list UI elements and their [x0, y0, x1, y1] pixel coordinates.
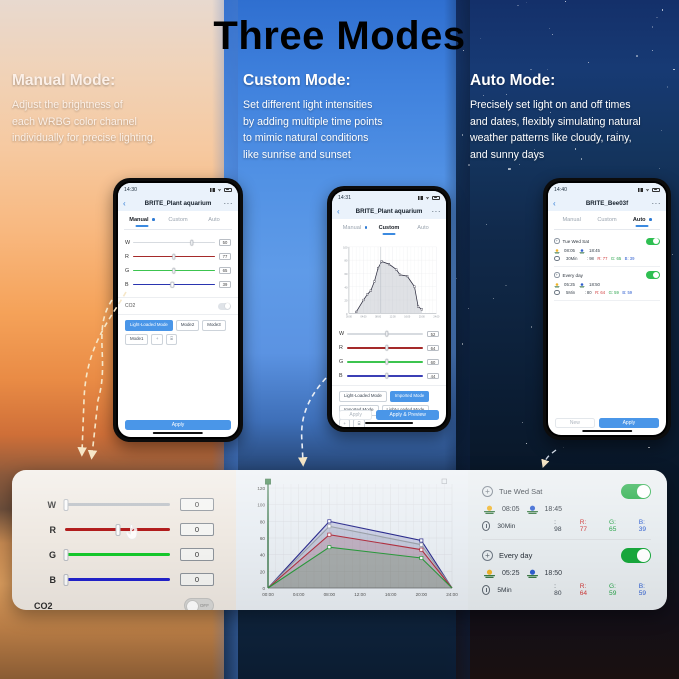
panel-schedule-value-b: B: 39: [639, 519, 651, 533]
panel-schedule-days: Every day: [499, 551, 532, 560]
status-icons: [638, 188, 660, 192]
custom-mode-line-3: to mimic natural conditions: [243, 130, 448, 147]
feature-detail-panel: W 0 R 0 G 0 B 0 CO2 OFF: [12, 470, 667, 610]
schedule-values: 30Min : 98 R: 77 G: 65 B: 39: [554, 256, 660, 262]
panel-schedule-off-time: 18:50: [545, 570, 563, 577]
tab-custom[interactable]: Custom: [160, 217, 196, 227]
sunrise-icon: [483, 504, 496, 515]
small-chart-x-tick: 08:00: [375, 316, 382, 319]
panel-schedule-ramp: 5Min: [497, 587, 537, 594]
slider-knob-b[interactable]: [385, 373, 388, 379]
slider-value-r[interactable]: 77: [219, 253, 231, 259]
star: [672, 254, 673, 255]
panel-slider-knob-g[interactable]: [64, 549, 69, 561]
slider-track-g[interactable]: [133, 270, 215, 272]
small-chart-x-tick: 24:00: [433, 316, 440, 319]
small-chart-point[interactable]: [399, 274, 401, 276]
small-chart-point[interactable]: [421, 308, 423, 310]
chart-point[interactable]: [420, 548, 423, 551]
auto-mode-line-3: weather patterns like cloudy, rainy,: [470, 130, 675, 147]
schedule-header: + Every day: [554, 271, 660, 278]
slider-value-w[interactable]: 50: [219, 239, 231, 245]
chart-y-tick-label: 100: [257, 503, 265, 508]
chart-y-tick-label: 0: [262, 586, 265, 591]
home-indicator: [153, 432, 203, 434]
small-chart-y-tick: 100: [343, 245, 348, 249]
panel-schedule-times: 08:05 18:45: [482, 504, 651, 515]
status-bar: 14:30: [118, 183, 238, 196]
apply-button[interactable]: Apply: [339, 410, 372, 420]
panel-slider-row-b: B 0: [34, 567, 214, 592]
tab-auto-label: Auto: [417, 225, 429, 231]
phone-screen-custom: 14:31 ‹ BRITE_Plant aquarium ··· Manual …: [332, 191, 446, 427]
plus-circle-icon[interactable]: +: [554, 238, 560, 244]
panel-slider-label-g: G: [34, 550, 56, 560]
custom-curve-chart[interactable]: 02040608010000:0004:0008:0012:0016:0020:…: [332, 237, 446, 325]
clock-icon: [482, 521, 490, 531]
chart-area-G: [268, 547, 452, 588]
device-name-title: BRITE_Plant aquarium: [118, 200, 238, 207]
slider-row-b: B 39: [125, 278, 231, 292]
battery-icon: [652, 188, 660, 192]
tab-auto[interactable]: Auto: [625, 217, 660, 227]
star: [563, 447, 564, 448]
star: [531, 326, 532, 327]
sunrise-icon: [554, 282, 560, 288]
schedule-on-time: 08:05: [564, 248, 575, 253]
chart-point[interactable]: [328, 520, 331, 523]
chart-point[interactable]: [328, 533, 331, 536]
auto-mode-line-4: and sunny days: [470, 147, 675, 164]
status-icons: [418, 196, 440, 200]
schedule-value-r: R: 64: [595, 290, 605, 295]
tab-underline: [136, 225, 149, 227]
tab-custom[interactable]: Custom: [372, 225, 406, 235]
tab-auto[interactable]: Auto: [406, 225, 440, 235]
chart-point[interactable]: [328, 546, 331, 549]
schedule-off-time: 18:45: [589, 248, 600, 253]
slider-row-g: G 65: [125, 264, 231, 278]
channel-sliders: W 50 R 77 G 65 B: [118, 230, 238, 294]
slider-label-w: W: [339, 331, 347, 337]
chart-x-tick-label: 24:00: [446, 592, 458, 597]
schedule-card[interactable]: + Every day 05:25 18:50 5Min : 80 R: 64 …: [554, 267, 660, 301]
auto-mode-line-2: and dates, flexibly simulating natural: [470, 114, 675, 131]
slider-value-g[interactable]: 60: [427, 359, 439, 365]
tab-manual-label: Manual: [562, 217, 580, 223]
tab-manual[interactable]: Manual: [338, 225, 372, 235]
slider-label-b: B: [125, 282, 133, 288]
star: [486, 224, 487, 225]
chart-area-W: [268, 526, 452, 588]
small-chart-point[interactable]: [414, 286, 416, 288]
custom-mode-line-2: by adding multiple time points: [243, 114, 448, 131]
panel-co2-label: CO2: [34, 601, 53, 611]
panel-schedule-value-w: : 80: [554, 583, 563, 597]
status-time: 14:31: [338, 195, 351, 201]
sunset-icon: [579, 282, 585, 288]
slider-track-r[interactable]: [347, 347, 423, 349]
panel-slider-knob-w[interactable]: [64, 499, 69, 511]
schedule-list: + Tue Wed Sat 08:05 18:45 30Min : 98 R: …: [548, 230, 666, 306]
chart-x-tick-label: 04:00: [293, 592, 305, 597]
slider-value-b[interactable]: 39: [219, 281, 231, 287]
panel-schedule-toggle[interactable]: [621, 484, 651, 499]
chart-area-R: [268, 535, 452, 588]
chip-light-loaded-mode-a[interactable]: Light-Loaded Mode: [339, 391, 387, 402]
star: [505, 285, 507, 287]
apply-button[interactable]: Apply: [599, 418, 659, 428]
cellular-signal-icon: [418, 196, 423, 200]
chart-area-B: [268, 521, 452, 588]
star: [522, 422, 523, 423]
slider-value-b[interactable]: 44: [427, 373, 439, 379]
chip-mode2[interactable]: Mode2: [176, 320, 199, 331]
chart-y-tick-label: 80: [260, 519, 266, 524]
schedule-value-b: B: 39: [625, 256, 635, 261]
cellular-signal-icon: [638, 188, 643, 192]
star: [530, 69, 531, 70]
sunset-icon: [526, 568, 539, 579]
more-horizontal-icon[interactable]: ···: [224, 200, 234, 208]
panel-schedule-days: Tue Wed Sat: [499, 487, 542, 496]
action-bar: Apply: [118, 420, 238, 430]
channel-sliders: W 52 R 64 G 60 B 44: [332, 325, 446, 385]
manual-mode-line-2: each WRBG color channel: [12, 114, 212, 131]
cellular-signal-icon: [210, 188, 215, 192]
panel-schedule-toggle[interactable]: [621, 548, 651, 563]
small-chart-point[interactable]: [377, 267, 379, 269]
chart-y-tick-label: 20: [260, 569, 266, 574]
panel-slider-value-g[interactable]: 0: [180, 548, 214, 561]
star: [662, 9, 663, 10]
schedule-value-w: : 80: [585, 290, 592, 295]
schedule-value-g: G: 65: [611, 256, 621, 261]
slider-row-b: B 44: [339, 369, 439, 383]
small-chart-point[interactable]: [417, 306, 419, 308]
mode-tabs: Manual Custom Auto: [332, 219, 446, 237]
slider-knob-g[interactable]: [172, 267, 175, 273]
small-chart-point[interactable]: [395, 269, 397, 271]
panel-slider-row-w: W 0: [34, 492, 214, 517]
chart-y-tick-label: 60: [260, 536, 266, 541]
trash-icon[interactable]: ⌸: [353, 419, 364, 427]
panel-slider-knob-r[interactable]: [115, 524, 120, 536]
schedule-values: 5Min : 80 R: 64 G: 59 B: 59: [554, 290, 660, 296]
co2-label: CO2: [125, 303, 135, 309]
small-chart-y-tick: 20: [345, 298, 348, 302]
tab-status-dot: [649, 218, 652, 221]
plus-circle-icon[interactable]: +: [482, 550, 493, 561]
slider-label-g: G: [125, 268, 133, 274]
plus-icon[interactable]: +: [339, 419, 350, 427]
plus-circle-icon[interactable]: +: [554, 272, 560, 278]
manual-mode-heading: Manual Mode:: [12, 72, 212, 90]
custom-mode-description: Custom Mode: Set different light intensi…: [243, 72, 448, 163]
small-chart-point[interactable]: [406, 275, 408, 277]
star: [462, 134, 463, 135]
chart-y-tick-label-max: 120: [257, 486, 265, 491]
small-chart-point[interactable]: [363, 299, 365, 301]
star: [519, 164, 520, 165]
slider-row-w: W 52: [339, 327, 439, 341]
phone-screen-auto: 14:40 ‹ BRITE_Bee03f ··· Manual Custom A…: [548, 183, 666, 435]
phone-custom-mode: 14:31 ‹ BRITE_Plant aquarium ··· Manual …: [327, 186, 451, 432]
slider-track-r[interactable]: [133, 256, 215, 258]
panel-schedule-value-g: G: 65: [609, 519, 622, 533]
wifi-icon: [217, 188, 222, 192]
panel-schedule-on-time: 08:05: [502, 506, 520, 513]
panel-schedule-value-r: R: 77: [580, 519, 593, 533]
small-chart-x-tick: 04:00: [361, 316, 368, 319]
schedule-ramp: 30Min: [566, 256, 577, 261]
slider-track-w[interactable]: [347, 333, 423, 335]
star: [462, 343, 464, 345]
panel-slider-value-w[interactable]: 0: [180, 498, 214, 511]
schedule-ramp: 5Min: [566, 290, 575, 295]
tab-custom[interactable]: Custom: [589, 217, 624, 227]
auto-mode-heading: Auto Mode:: [470, 72, 675, 90]
chart-point[interactable]: [420, 543, 423, 546]
small-chart-x-tick: 20:00: [419, 316, 426, 319]
panel-co2-toggle[interactable]: OFF: [184, 598, 214, 610]
chart-point[interactable]: [420, 556, 423, 559]
panel-schedule-card[interactable]: + Every day 05:25 1: [482, 539, 651, 603]
phone-auto-mode: 14:40 ‹ BRITE_Bee03f ··· Manual Custom A…: [543, 178, 671, 440]
slider-label-b: B: [339, 373, 347, 379]
page-title: Three Modes: [0, 14, 679, 59]
star: [648, 447, 650, 449]
slider-knob-r[interactable]: [172, 253, 175, 259]
device-name-title: BRITE_Plant aquarium: [332, 208, 446, 215]
small-chart-point[interactable]: [381, 261, 383, 263]
phone-screen-manual: 14:30 ‹ BRITE_Plant aquarium ··· Manual …: [118, 183, 238, 437]
slider-label-r: R: [125, 254, 133, 260]
small-chart-point[interactable]: [355, 311, 357, 313]
panel-chart-container[interactable]: 12010080604020012000:0004:0008:0012:0016…: [244, 470, 462, 610]
panel-chart-svg: 12010080604020012000:0004:0008:0012:0016…: [244, 470, 462, 610]
tab-auto[interactable]: Auto: [196, 217, 232, 227]
more-horizontal-icon[interactable]: ···: [652, 200, 662, 208]
small-chart-point[interactable]: [374, 281, 376, 283]
chart-start-handle[interactable]: [265, 479, 270, 484]
custom-curve-svg: 02040608010000:0004:0008:0012:0016:0020:…: [338, 241, 440, 325]
tab-manual[interactable]: Manual: [124, 217, 160, 227]
slider-label-g: G: [339, 359, 347, 365]
panel-slider-value-b[interactable]: 0: [180, 573, 214, 586]
panel-co2-toggle-text: OFF: [200, 603, 209, 608]
chart-y-tick-label: 120: [257, 486, 265, 491]
small-chart-point[interactable]: [370, 290, 372, 292]
tab-manual[interactable]: Manual: [554, 217, 589, 227]
slider-track-w[interactable]: [133, 242, 215, 244]
chip-mode1[interactable]: Mode1: [125, 334, 148, 345]
phone-bezel: 14:40 ‹ BRITE_Bee03f ··· Manual Custom A…: [546, 181, 668, 437]
star: [547, 69, 548, 70]
star: [468, 164, 470, 166]
phone-manual-mode: 14:30 ‹ BRITE_Plant aquarium ··· Manual …: [113, 178, 243, 442]
panel-slider-value-r[interactable]: 0: [180, 523, 214, 536]
schedule-times: 05:25 18:50: [554, 282, 660, 288]
co2-toggle[interactable]: [218, 303, 231, 310]
phone-bezel: 14:30 ‹ BRITE_Plant aquarium ··· Manual …: [116, 181, 240, 439]
slider-value-r[interactable]: 64: [427, 345, 439, 351]
hand-pointer-icon: [124, 520, 141, 542]
star: [510, 168, 511, 169]
star: [588, 62, 589, 63]
auto-mode-description: Auto Mode: Precisely set light on and of…: [470, 72, 675, 163]
star: [508, 168, 510, 170]
schedule-toggle[interactable]: [646, 271, 660, 278]
schedule-value-g: G: 59: [609, 290, 619, 295]
chart-x-tick-label: 00:00: [262, 592, 274, 597]
mode-tabs: Manual Custom Auto: [118, 211, 238, 229]
nav-bar: ‹ BRITE_Plant aquarium ···: [118, 196, 238, 211]
chart-x-tick-label: 20:00: [416, 592, 428, 597]
panel-schedule-values: 30Min : 98 R: 77 G: 65 B: 39: [482, 519, 651, 533]
star: [673, 69, 674, 70]
small-chart-point[interactable]: [366, 294, 368, 296]
slider-label-r: R: [339, 345, 347, 351]
panel-schedule-value-r: R: 64: [580, 583, 593, 597]
nav-bar: ‹ BRITE_Bee03f ···: [548, 196, 666, 211]
tab-status-dot: [152, 218, 155, 221]
plus-icon[interactable]: +: [151, 334, 162, 345]
sunrise-icon: [483, 568, 496, 579]
chart-x-tick-label: 16:00: [385, 592, 397, 597]
slider-row-g: G 60: [339, 355, 439, 369]
small-chart-point[interactable]: [388, 263, 390, 265]
panel-slider-track-r[interactable]: [65, 528, 170, 531]
chip-mode3[interactable]: Mode3: [202, 320, 225, 331]
slider-row-r: R 64: [339, 341, 439, 355]
chart-y-tick-label: 40: [260, 553, 266, 558]
tab-manual-label: Manual: [129, 217, 148, 223]
tab-status-dot: [365, 226, 368, 229]
small-chart-y-tick: 80: [345, 259, 348, 263]
co2-row: CO2: [118, 297, 238, 314]
tab-underline: [636, 225, 649, 227]
panel-custom-chart: 12010080604020012000:0004:0008:0012:0016…: [244, 470, 462, 610]
panel-slider-knob-b[interactable]: [64, 574, 69, 586]
tab-manual-label: Manual: [343, 225, 361, 231]
custom-mode-line-1: Set different light intensities: [243, 97, 448, 114]
chart-x-tick-label: 12:00: [354, 592, 366, 597]
action-bar: New Apply: [548, 418, 666, 428]
chip-imported-mode-a[interactable]: Imported Mode: [390, 391, 430, 402]
nav-bar: ‹ BRITE_Plant aquarium ···: [332, 204, 446, 219]
apply-button[interactable]: Apply: [125, 420, 231, 430]
slider-knob-b[interactable]: [171, 281, 174, 287]
slider-track-b[interactable]: [347, 375, 423, 377]
status-icons: [210, 188, 232, 192]
slider-knob-w[interactable]: [385, 331, 388, 337]
star: [517, 5, 518, 6]
panel-schedule-values: 5Min : 80 R: 64 G: 59 B: 59: [482, 583, 651, 597]
schedule-days: Every day: [563, 273, 583, 278]
panel-schedule-header: + Tue Wed Sat: [482, 484, 651, 499]
schedule-on-time: 05:25: [564, 282, 575, 287]
manual-mode-description: Manual Mode: Adjust the brightness of ea…: [12, 72, 212, 147]
star: [526, 2, 527, 3]
status-time: 14:30: [124, 187, 137, 193]
panel-schedule-on-time: 05:25: [502, 570, 520, 577]
chart-point[interactable]: [328, 525, 331, 528]
tab-custom-label: Custom: [168, 217, 187, 223]
slider-track-b[interactable]: [133, 284, 215, 286]
schedule-card[interactable]: + Tue Wed Sat 08:05 18:45 30Min : 98 R: …: [554, 234, 660, 268]
slider-knob-g[interactable]: [385, 359, 388, 365]
status-time: 14:40: [554, 187, 567, 193]
slider-value-g[interactable]: 65: [219, 267, 231, 273]
device-name-title: BRITE_Bee03f: [548, 200, 666, 207]
star: [565, 1, 566, 2]
schedule-toggle[interactable]: [646, 238, 660, 245]
clock-icon: [554, 290, 560, 296]
battery-icon: [224, 188, 232, 192]
clock-icon: [554, 256, 560, 262]
panel-co2-row: CO2 OFF: [12, 592, 240, 610]
wifi-icon: [645, 188, 650, 192]
panel-slider-row-g: G 0: [34, 542, 214, 567]
status-bar: 14:40: [548, 183, 666, 196]
star: [659, 168, 661, 170]
panel-slider-track-b[interactable]: [65, 578, 170, 581]
custom-mode-line-4: like sunrise and sunset: [243, 147, 448, 164]
tab-underline: [383, 233, 396, 235]
chart-end-handle[interactable]: [442, 479, 447, 484]
mode-chip-list: Light-Loaded Mode Mode2 Mode3 Mode1 + ⌸: [118, 314, 238, 350]
slider-knob-r[interactable]: [385, 345, 388, 351]
custom-mode-heading: Custom Mode:: [243, 72, 448, 90]
trash-icon[interactable]: ⌸: [166, 334, 177, 345]
star: [493, 298, 494, 299]
schedule-times: 08:05 18:45: [554, 248, 660, 254]
panel-schedule-card[interactable]: + Tue Wed Sat 08:05: [482, 482, 651, 539]
small-chart-x-tick: 12:00: [390, 316, 397, 319]
schedule-days: Tue Wed Sat: [563, 239, 590, 244]
manual-mode-line-1: Adjust the brightness of: [12, 97, 212, 114]
panel-schedule-times: 05:25 18:50: [482, 568, 651, 579]
sunset-icon: [579, 248, 585, 254]
panel-slider-label-r: R: [34, 525, 56, 535]
tab-custom-label: Custom: [379, 225, 400, 231]
panel-schedule-ramp: 30Min: [497, 523, 537, 530]
slider-row-w: W 50: [125, 236, 231, 250]
apply-preview-button[interactable]: Apply & Preview: [376, 410, 439, 420]
small-chart-y-tick: 40: [345, 285, 348, 289]
small-chart-x-tick: 00:00: [346, 316, 353, 319]
panel-schedule-header: + Every day: [482, 548, 651, 563]
panel-schedule-off-time: 18:45: [545, 506, 563, 513]
chart-line-B: [268, 521, 452, 588]
schedule-value-b: B: 59: [622, 290, 632, 295]
mode-tabs: Manual Custom Auto: [548, 211, 666, 229]
chart-point[interactable]: [420, 539, 423, 542]
new-button[interactable]: New: [555, 418, 595, 428]
sunrise-icon: [554, 248, 560, 254]
slider-track-g[interactable]: [347, 361, 423, 363]
slider-value-w[interactable]: 52: [427, 331, 439, 337]
slider-knob-w[interactable]: [190, 239, 193, 245]
more-horizontal-icon[interactable]: ···: [432, 208, 442, 216]
panel-slider-track-w[interactable]: [65, 503, 170, 506]
panel-slider-track-g[interactable]: [65, 553, 170, 556]
schedule-header: + Tue Wed Sat: [554, 238, 660, 245]
chart-line-W: [268, 526, 452, 588]
plus-circle-icon[interactable]: +: [482, 486, 493, 497]
chip-light-loaded-mode[interactable]: Light-Loaded Mode: [125, 320, 173, 331]
